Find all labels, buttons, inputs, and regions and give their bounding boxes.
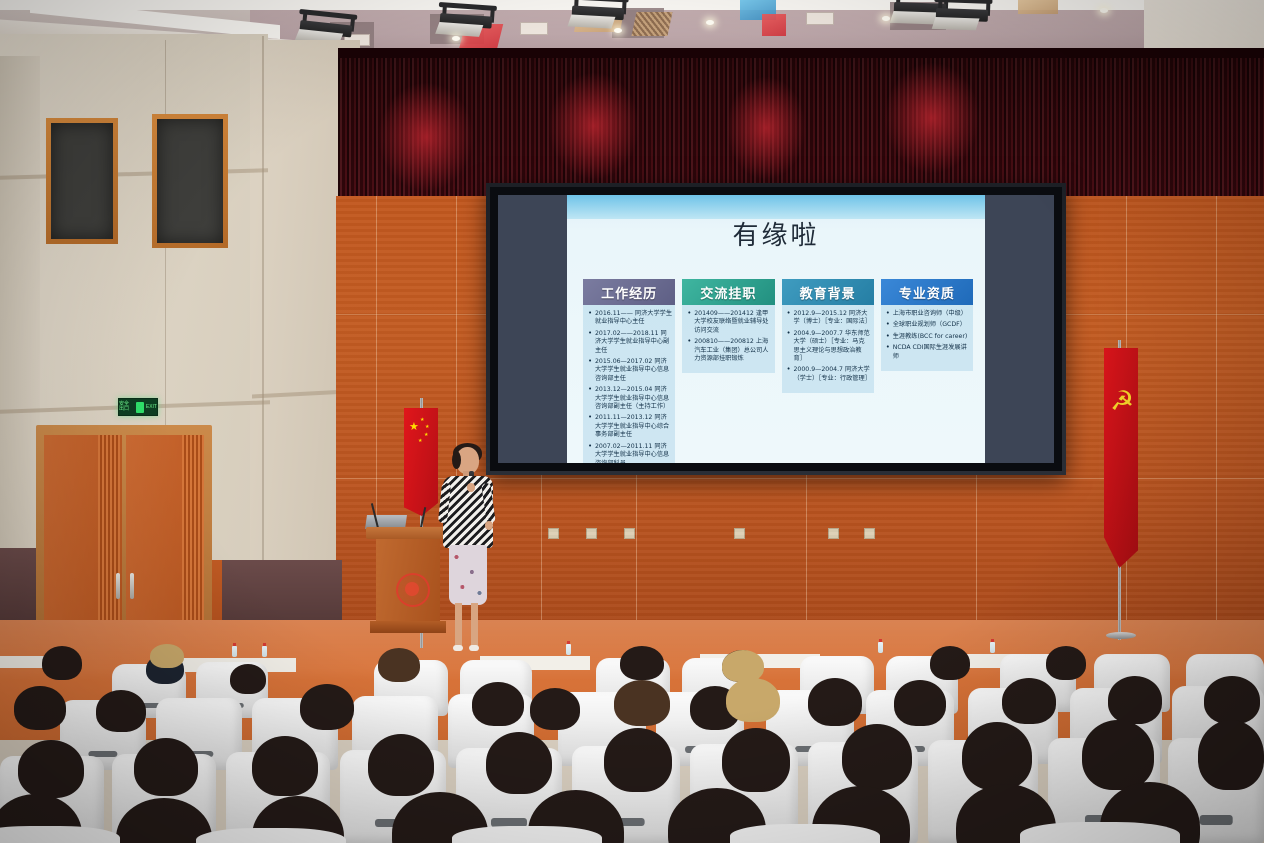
audience-head (620, 646, 664, 680)
flag-star-large: ★ (409, 422, 419, 433)
curtain-spotlight-2 (548, 72, 640, 180)
audience-shoulder (196, 828, 346, 843)
projection-screen[interactable]: 有缘啦 工作经历 2016.11—— 同济大学学生就业指导中心主任 2017.0… (486, 183, 1066, 475)
column-body-credentials: 上海市职业咨询师（中级） 全球职业规划师（GCDF） 生涯教练(BCC for … (881, 305, 973, 371)
audience-head (486, 732, 552, 794)
emergency-exit-sign: 安全出口 EXIT (118, 398, 158, 416)
list-item: 200810——200812 上海汽车工业（集团）总公司人力资源部挂职锻炼 (694, 338, 771, 363)
ceiling-downlight-1 (452, 36, 460, 41)
presenter-skirt (449, 545, 487, 605)
wall-outlet-4[interactable] (586, 528, 597, 539)
lectern-body (376, 539, 440, 621)
audience-head (378, 648, 420, 682)
national-flag: ★ ★ ★ ★ ★ (404, 408, 438, 516)
water-bottle-3[interactable] (566, 644, 571, 655)
curtain-track (338, 48, 1264, 58)
auditorium-scene: 安全出口 EXIT 有缘啦 工作经历 2016.11—— 同济大学学生就业指导中… (0, 0, 1264, 843)
column-body-work-experience: 2016.11—— 同济大学学生就业指导中心主任 2017.02——2018.1… (583, 305, 675, 463)
audience-head (1108, 676, 1162, 724)
audience-shoulder (0, 826, 120, 843)
slide-columns: 工作经历 2016.11—— 同济大学学生就业指导中心主任 2017.02——2… (583, 279, 973, 463)
list-item: 2007.02—2011.11 同济大学学生就业指导中心信息咨询部科员 (595, 443, 672, 463)
curtain-spotlight-4 (884, 62, 980, 174)
door-groove-right (182, 435, 204, 647)
audience-head (230, 664, 266, 694)
presenter (440, 447, 496, 652)
ceiling-panel-light-2 (806, 12, 834, 25)
column-header-work-experience: 工作经历 (583, 279, 675, 305)
audience-head (722, 650, 764, 682)
ceiling-downlight-4 (882, 16, 890, 21)
list-item: 201409——201412 逢甲大学校友联络暨就业辅导处 访问交流 (694, 310, 771, 335)
stage-light-fixture-3 (567, 0, 633, 30)
presenter-hand-right (485, 521, 493, 530)
list-item: NCDA CDI国际生涯发展讲师 (893, 344, 970, 361)
audience-head (842, 724, 912, 790)
acoustic-panel-right (152, 114, 228, 248)
list-item: 2012.9—2015.12 同济大学（博士）［专业：国际法］ (794, 310, 871, 327)
audience-head (150, 644, 184, 668)
presentation-slide: 有缘啦 工作经历 2016.11—— 同济大学学生就业指导中心主任 2017.0… (567, 195, 985, 463)
flag-star-small-4: ★ (418, 439, 422, 444)
wall-outlet-8[interactable] (864, 528, 875, 539)
audience-head (726, 678, 780, 722)
flag-star-small-3: ★ (424, 433, 428, 438)
presenter-hand-holding-mic (467, 483, 475, 492)
list-item: 上海市职业咨询师（中级） (893, 310, 970, 318)
column-header-education: 教育背景 (782, 279, 874, 305)
list-item: 全球职业规划师（GCDF） (893, 321, 970, 329)
audience-shoulder (730, 824, 880, 843)
flag-star-small-2: ★ (425, 425, 429, 430)
stage-light-gel-amber-2 (1018, 0, 1058, 14)
stage-light-mesh (631, 12, 672, 36)
slide-title: 有缘啦 (567, 215, 985, 252)
presenter-hair-side (452, 451, 461, 469)
audience-head (134, 738, 198, 796)
column-header-credentials: 专业资质 (881, 279, 973, 305)
party-flag (1104, 348, 1138, 568)
ceiling-downlight-2 (614, 28, 622, 33)
list-item: 2000.9—2004.7 同济大学（学士）［专业：行政管理］ (794, 366, 871, 383)
stage-light-gel-red-2 (762, 14, 786, 36)
door-handle-left[interactable] (116, 573, 120, 599)
list-item: 2004.9—2007.7 华东师范大学（硕士）［专业：马克思主义理论与思想政治… (794, 330, 871, 364)
curtain-spotlight-3 (726, 76, 806, 180)
audience-head (614, 680, 670, 726)
curtain-spotlight-1 (378, 82, 474, 192)
audience-head (1046, 646, 1086, 680)
list-item: 2016.11—— 同济大学学生就业指导中心主任 (595, 310, 672, 327)
wall-outlet-7[interactable] (828, 528, 839, 539)
list-item: 2011.11—2013.12 同济大学学生就业指导中心综合事务部副主任 (595, 414, 672, 439)
list-item: 2015.06—2017.02 同济大学学生就业指导中心信息咨询部主任 (595, 358, 672, 383)
slide-column-education: 教育背景 2012.9—2015.12 同济大学（博士）［专业：国际法］ 200… (782, 279, 874, 393)
wall-outlet-5[interactable] (624, 528, 635, 539)
audience-seating (0, 628, 1264, 843)
audience-head (530, 688, 580, 730)
hammer-sickle-emblem: ☭ (1110, 388, 1134, 422)
ceiling-downlight-3 (706, 20, 714, 25)
column-body-education: 2012.9—2015.12 同济大学（博士）［专业：国际法］ 2004.9—2… (782, 305, 874, 393)
door-handle-right[interactable] (130, 573, 134, 599)
water-bottle-1[interactable] (232, 646, 237, 657)
audience-head (472, 682, 524, 726)
audience-head (42, 646, 82, 680)
stage-light-fixture-2 (435, 0, 501, 38)
water-bottle-2[interactable] (262, 646, 267, 657)
audience-head (368, 734, 434, 796)
audience-head (930, 646, 970, 680)
slide-column-credentials: 专业资质 上海市职业咨询师（中级） 全球职业规划师（GCDF） 生涯教练(BCC… (881, 279, 973, 371)
exit-door-frame (36, 425, 212, 653)
acoustic-panel-left (46, 118, 118, 244)
audience-head (1002, 678, 1056, 724)
lectern-top (366, 527, 450, 539)
flag-star-small-1: ★ (420, 418, 424, 423)
audience-head (1204, 676, 1260, 724)
list-item: 生涯教练(BCC for career) (893, 333, 970, 341)
water-bottle-4[interactable] (878, 642, 883, 653)
university-emblem (396, 573, 430, 607)
wall-panel-seam-8 (1216, 196, 1217, 626)
exit-sign-label-cn: 安全出口 (119, 402, 134, 412)
wall-outlet-3[interactable] (548, 528, 559, 539)
exit-sign-label-en: EXIT (146, 405, 157, 410)
wall-outlet-6[interactable] (734, 528, 745, 539)
audience-shoulder (1020, 822, 1180, 843)
running-man-icon (136, 402, 144, 413)
audience-head (722, 728, 790, 792)
water-bottle-5[interactable] (990, 642, 995, 653)
audience-head (1198, 720, 1264, 790)
audience-head (252, 736, 318, 796)
lectern[interactable] (372, 527, 444, 637)
door-groove-left (98, 435, 120, 647)
ceiling-downlight-5 (1100, 8, 1108, 13)
slide-column-exchange: 交流挂职 201409——201412 逢甲大学校友联络暨就业辅导处 访问交流 … (682, 279, 774, 373)
audience-head (808, 678, 862, 726)
list-item: 2017.02——2018.11 同济大学学生就业指导中心副主任 (595, 330, 672, 355)
column-body-exchange: 201409——201412 逢甲大学校友联络暨就业辅导处 访问交流 20081… (682, 305, 774, 373)
screen-bezel: 有缘啦 工作经历 2016.11—— 同济大学学生就业指导中心主任 2017.0… (490, 187, 1062, 471)
audience-head (18, 740, 84, 798)
column-header-exchange: 交流挂职 (682, 279, 774, 305)
audience-head (962, 722, 1032, 790)
audience-head (300, 684, 354, 730)
ceiling-panel-light-1 (520, 22, 548, 35)
audience-head (96, 690, 146, 732)
list-item: 2013.12—2015.04 同济大学学生就业指导中心信息咨询部副主任（主持工… (595, 386, 672, 411)
audience-head (14, 686, 66, 730)
stage-light-fixture-5 (931, 0, 996, 31)
audience-shoulder (452, 826, 602, 843)
slide-column-work-experience: 工作经历 2016.11—— 同济大学学生就业指导中心主任 2017.02——2… (583, 279, 675, 463)
audience-head (894, 680, 946, 726)
slide-letterbox: 有缘啦 工作经历 2016.11—— 同济大学学生就业指导中心主任 2017.0… (498, 195, 1054, 463)
audience-head (604, 728, 672, 792)
audience-head (1082, 720, 1154, 790)
